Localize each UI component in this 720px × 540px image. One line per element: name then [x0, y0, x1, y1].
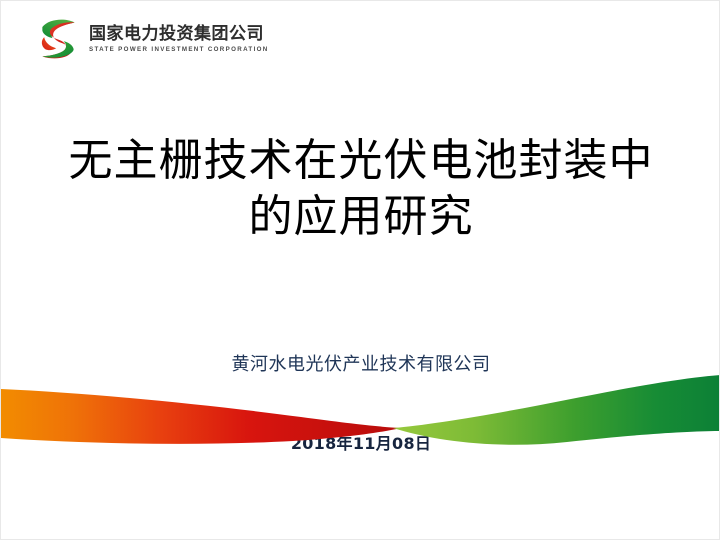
company-logo: 国家电力投资集团公司 STATE POWER INVESTMENT CORPOR…: [35, 15, 269, 63]
slide-date: 2018年11月08日: [1, 433, 720, 455]
decorative-wave-ribbons: [1, 1, 720, 540]
title-slide: 国家电力投资集团公司 STATE POWER INVESTMENT CORPOR…: [0, 0, 720, 540]
slide-title-line-1: 无主栅技术在光伏电池封装中: [1, 133, 720, 189]
slide-title-line-2: 的应用研究: [1, 189, 720, 245]
logo-company-name-cn: 国家电力投资集团公司: [89, 25, 269, 44]
spic-spiral-logo-icon: [35, 16, 81, 62]
slide-subtitle-organization: 黄河水电光伏产业技术有限公司: [1, 353, 720, 377]
logo-wordmark: 国家电力投资集团公司 STATE POWER INVESTMENT CORPOR…: [89, 25, 269, 54]
slide-title: 无主栅技术在光伏电池封装中 的应用研究: [1, 133, 720, 245]
logo-company-name-en: STATE POWER INVESTMENT CORPORATION: [89, 45, 269, 54]
